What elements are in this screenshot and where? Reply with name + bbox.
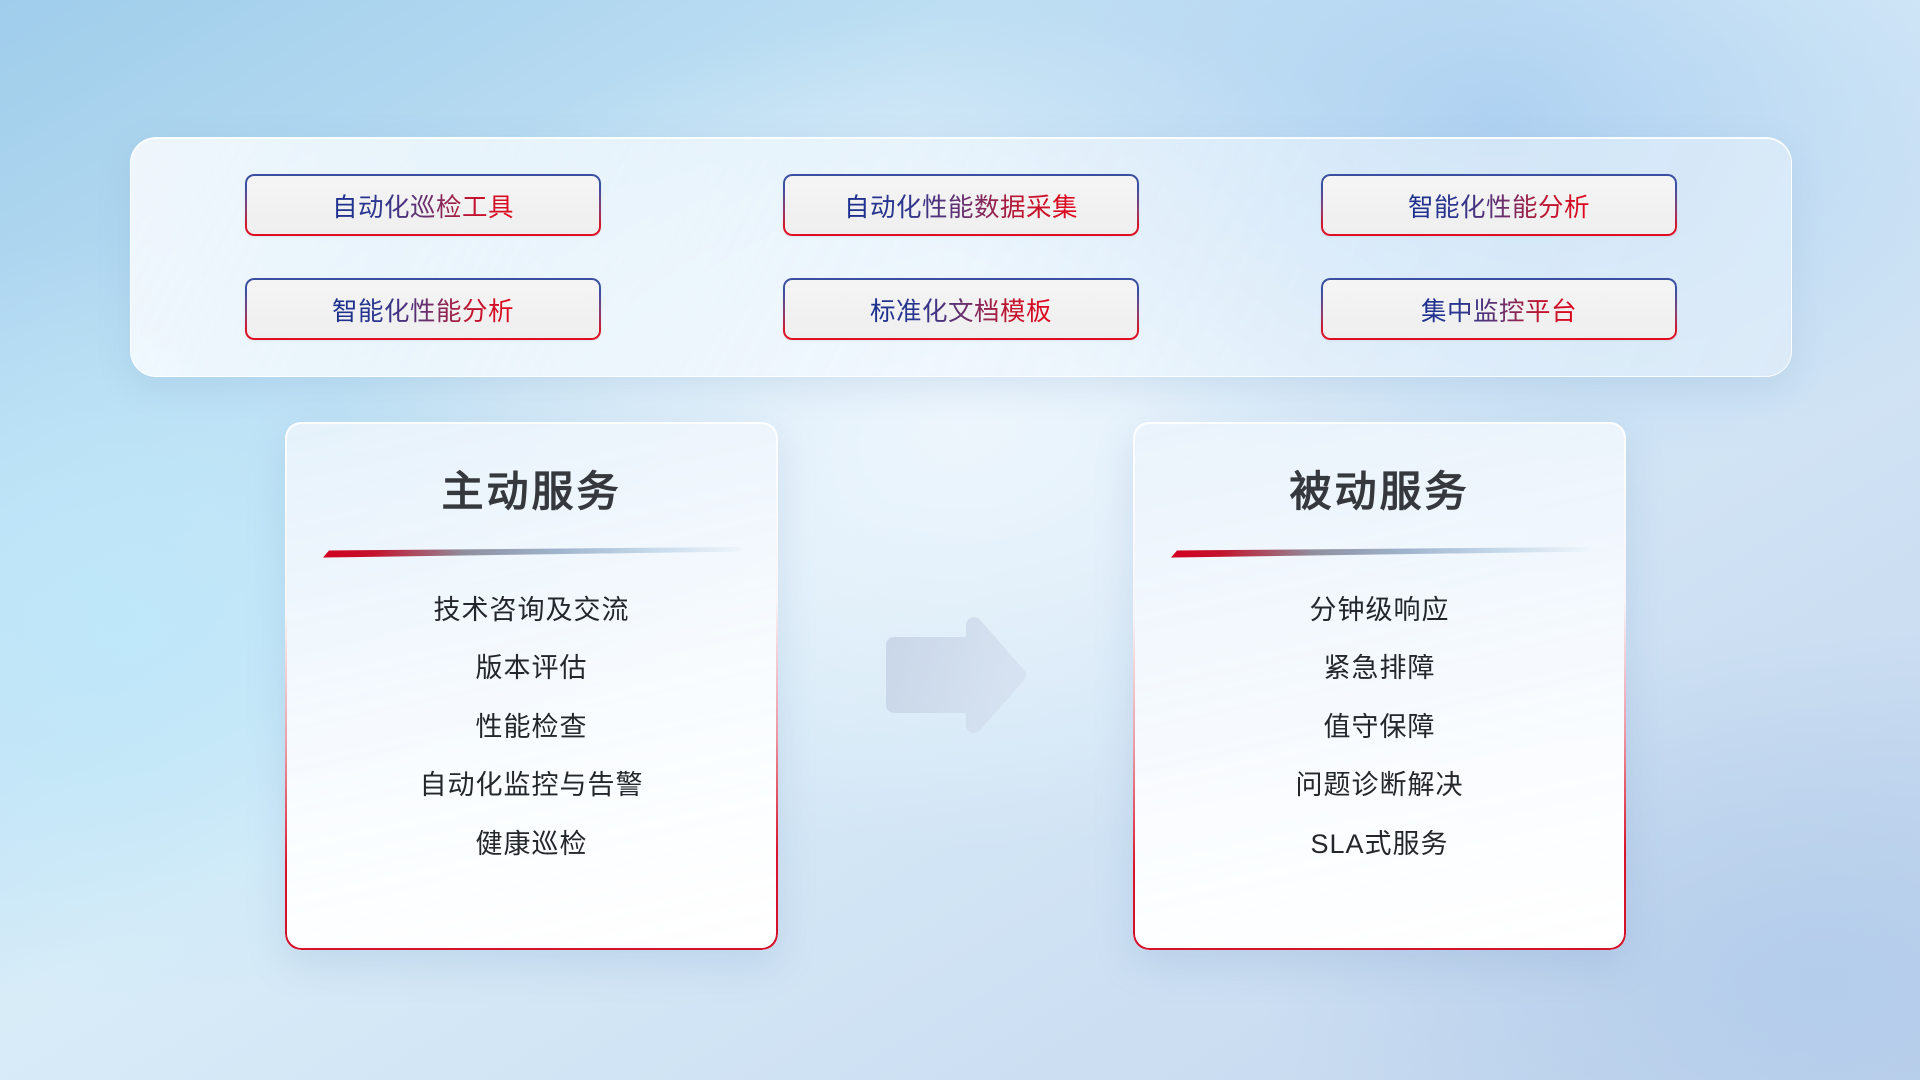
service-list-item: 值守保障 bbox=[1159, 709, 1600, 745]
service-card-title: 主动服务 bbox=[285, 458, 778, 519]
capability-chip[interactable]: 自动化巡检工具 bbox=[245, 174, 601, 236]
right-arrow-icon bbox=[880, 615, 1030, 735]
capability-chip-label: 集中监控平台 bbox=[1421, 291, 1577, 328]
slide-canvas: 自动化巡检工具 自动化性能数据采集 智能化性能分析 智能化性能分析 标准化文档模… bbox=[0, 0, 1920, 1080]
capability-chip[interactable]: 智能化性能分析 bbox=[245, 278, 601, 340]
capability-chip[interactable]: 标准化文档模板 bbox=[783, 278, 1139, 340]
capability-chip-label: 智能化性能分析 bbox=[332, 291, 514, 328]
service-list-item: 自动化监控与告警 bbox=[311, 767, 752, 803]
capability-chip[interactable]: 智能化性能分析 bbox=[1321, 174, 1677, 236]
service-card-title: 被动服务 bbox=[1133, 458, 1626, 519]
title-divider bbox=[323, 547, 741, 558]
service-list-item: 健康巡检 bbox=[311, 826, 752, 862]
capability-chip[interactable]: 自动化性能数据采集 bbox=[783, 174, 1139, 236]
service-item-list: 技术咨询及交流 版本评估 性能检查 自动化监控与告警 健康巡检 bbox=[285, 592, 778, 862]
capability-chip[interactable]: 集中监控平台 bbox=[1321, 278, 1677, 340]
capability-chip-label: 自动化性能数据采集 bbox=[844, 187, 1078, 224]
service-list-item: 技术咨询及交流 bbox=[311, 592, 752, 628]
service-list-item: SLA式服务 bbox=[1159, 826, 1600, 862]
capability-panel: 自动化巡检工具 自动化性能数据采集 智能化性能分析 智能化性能分析 标准化文档模… bbox=[130, 137, 1792, 377]
capability-chip-label: 智能化性能分析 bbox=[1408, 187, 1590, 224]
title-divider bbox=[1171, 547, 1589, 558]
service-list-item: 紧急排障 bbox=[1159, 650, 1600, 686]
capability-chip-label: 自动化巡检工具 bbox=[332, 187, 514, 224]
service-item-list: 分钟级响应 紧急排障 值守保障 问题诊断解决 SLA式服务 bbox=[1133, 592, 1626, 862]
service-list-item: 问题诊断解决 bbox=[1159, 767, 1600, 803]
service-list-item: 版本评估 bbox=[311, 650, 752, 686]
service-list-item: 分钟级响应 bbox=[1159, 592, 1600, 628]
service-list-item: 性能检查 bbox=[311, 709, 752, 745]
service-card-passive: 被动服务 分钟级响应 紧急排障 值守保障 bbox=[1133, 422, 1626, 950]
capability-chip-label: 标准化文档模板 bbox=[870, 291, 1052, 328]
service-card-active: 主动服务 技术咨询及交流 版本评估 性能检查 bbox=[285, 422, 778, 950]
